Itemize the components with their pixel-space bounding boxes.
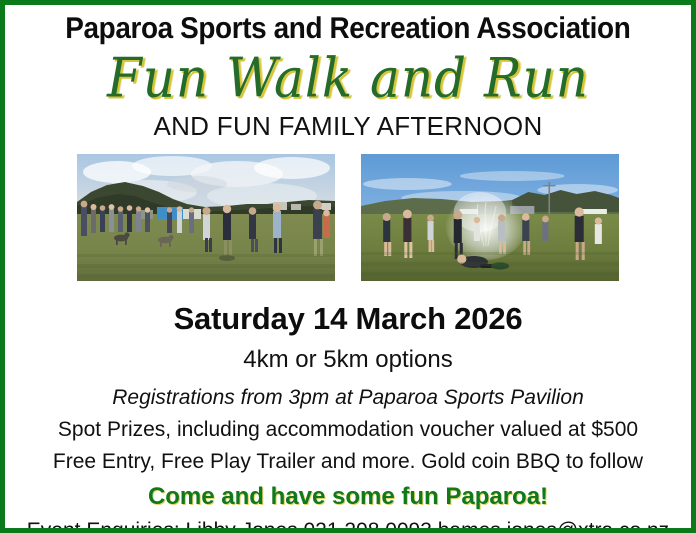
event-title-container: Fun Walk and Run	[5, 49, 691, 107]
poster-flyer: Paparoa Sports and Recreation Associatio…	[0, 0, 696, 533]
poster-content: Paparoa Sports and Recreation Associatio…	[5, 5, 691, 528]
registration-details: Registrations from 3pm at Paparoa Sports…	[112, 386, 584, 410]
photo-row	[5, 154, 691, 281]
distance-options: 4km or 5km options	[243, 346, 452, 374]
event-title: Fun Walk and Run	[107, 46, 589, 109]
spot-prizes-details: Spot Prizes, including accommodation vou…	[58, 418, 638, 442]
entry-details: Free Entry, Free Play Trailer and more. …	[53, 450, 643, 474]
event-enquiries: Event Enquiries: Libby Jones 021 208 009…	[27, 519, 669, 533]
children-water-sprinkler-photo	[361, 154, 619, 281]
event-subtitle: AND FUN FAMILY AFTERNOON	[153, 111, 542, 142]
crowd-on-field-photo	[77, 154, 335, 281]
organisation-name: Paparoa Sports and Recreation Associatio…	[65, 13, 630, 45]
event-date: Saturday 14 March 2026	[174, 301, 523, 337]
call-to-action: Come and have some fun Paparoa!	[148, 483, 548, 511]
